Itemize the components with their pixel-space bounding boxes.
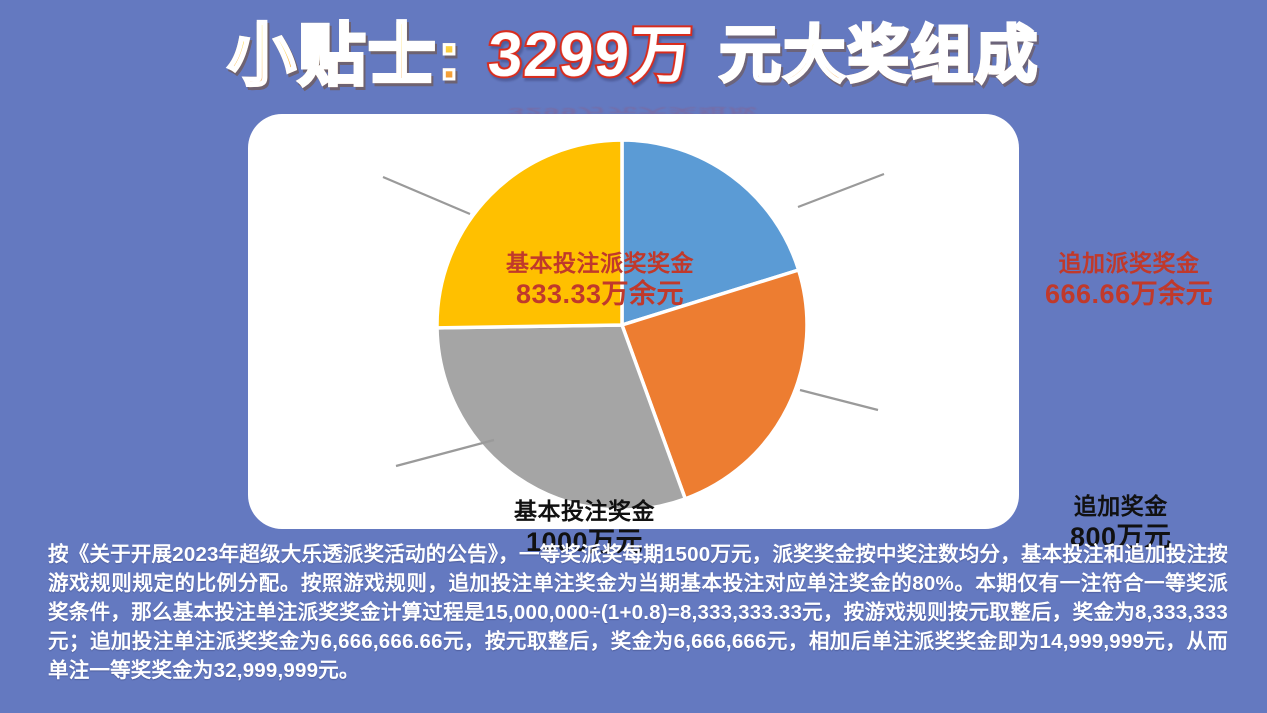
pie-label-extra-bonus: 追加派奖奖金 666.66万余元 <box>1045 249 1213 312</box>
pie-label-extra-bonus-name: 追加派奖奖金 <box>1045 249 1213 278</box>
pie-chart-svg <box>248 114 1019 529</box>
pie-chart-card: 基本投注派奖奖金 833.33万余元 追加派奖奖金 666.66万余元 基本投注… <box>248 114 1019 529</box>
page-title: 小贴士: 3299万 元大奖组成 <box>0 8 1267 104</box>
leader-line-extra-prize <box>800 390 878 410</box>
leader-line-extra-bonus <box>798 174 884 207</box>
title-tip-text: 小贴士: <box>228 22 463 90</box>
pie-label-basic-bonus: 基本投注派奖奖金 833.33万余元 <box>506 249 694 312</box>
leader-line-basic-bonus <box>383 177 470 214</box>
pie-label-basic-prize-name: 基本投注奖金 <box>514 497 655 526</box>
footnote-paragraph: 按《关于开展2023年超级大乐透派奖活动的公告》，一等奖派奖每期1500万元，派… <box>48 540 1228 685</box>
title-amount-text: 3299万 <box>487 25 695 87</box>
title-suffix-text: 元大奖组成 <box>719 25 1039 87</box>
pie-label-extra-bonus-value: 666.66万余元 <box>1045 278 1213 312</box>
pie-chart: 基本投注派奖奖金 833.33万余元 追加派奖奖金 666.66万余元 基本投注… <box>248 114 1019 529</box>
pie-label-extra-prize-name: 追加奖金 <box>1070 492 1172 521</box>
pie-slices <box>437 140 807 510</box>
pie-label-basic-bonus-value: 833.33万余元 <box>506 278 694 312</box>
leader-line-basic-prize <box>396 440 494 466</box>
pie-label-basic-bonus-name: 基本投注派奖奖金 <box>506 249 694 278</box>
